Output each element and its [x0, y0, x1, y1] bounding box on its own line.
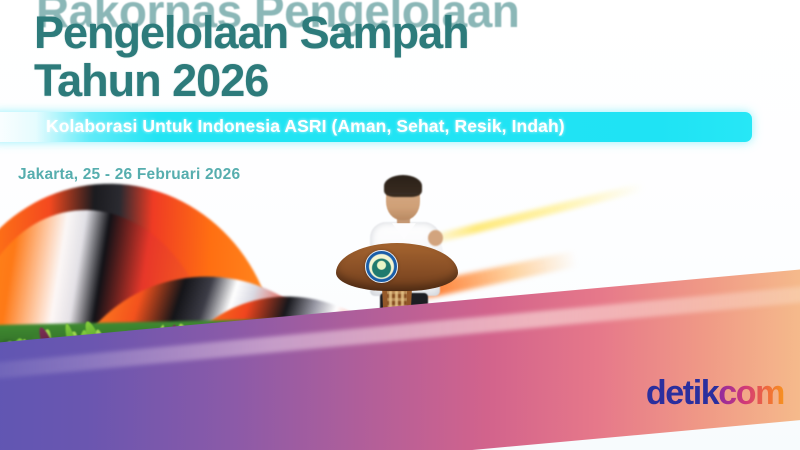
- detikcom-watermark: detikcom: [646, 376, 784, 410]
- event-subtitle: Kolaborasi Untuk Indonesia ASRI (Aman, S…: [46, 116, 746, 137]
- glasses-icon: [387, 193, 419, 202]
- screenshot-root: Rakornas Pengelolaan Pengelolaan Sampah …: [0, 0, 800, 450]
- page-title-line-1: Pengelolaan Sampah: [34, 8, 469, 58]
- logo-text-detik: detik: [646, 374, 718, 412]
- ministry-emblem-icon: [365, 250, 398, 283]
- page-title-line-2: Tahun 2026: [34, 56, 268, 106]
- logo-text-com: com: [718, 374, 784, 412]
